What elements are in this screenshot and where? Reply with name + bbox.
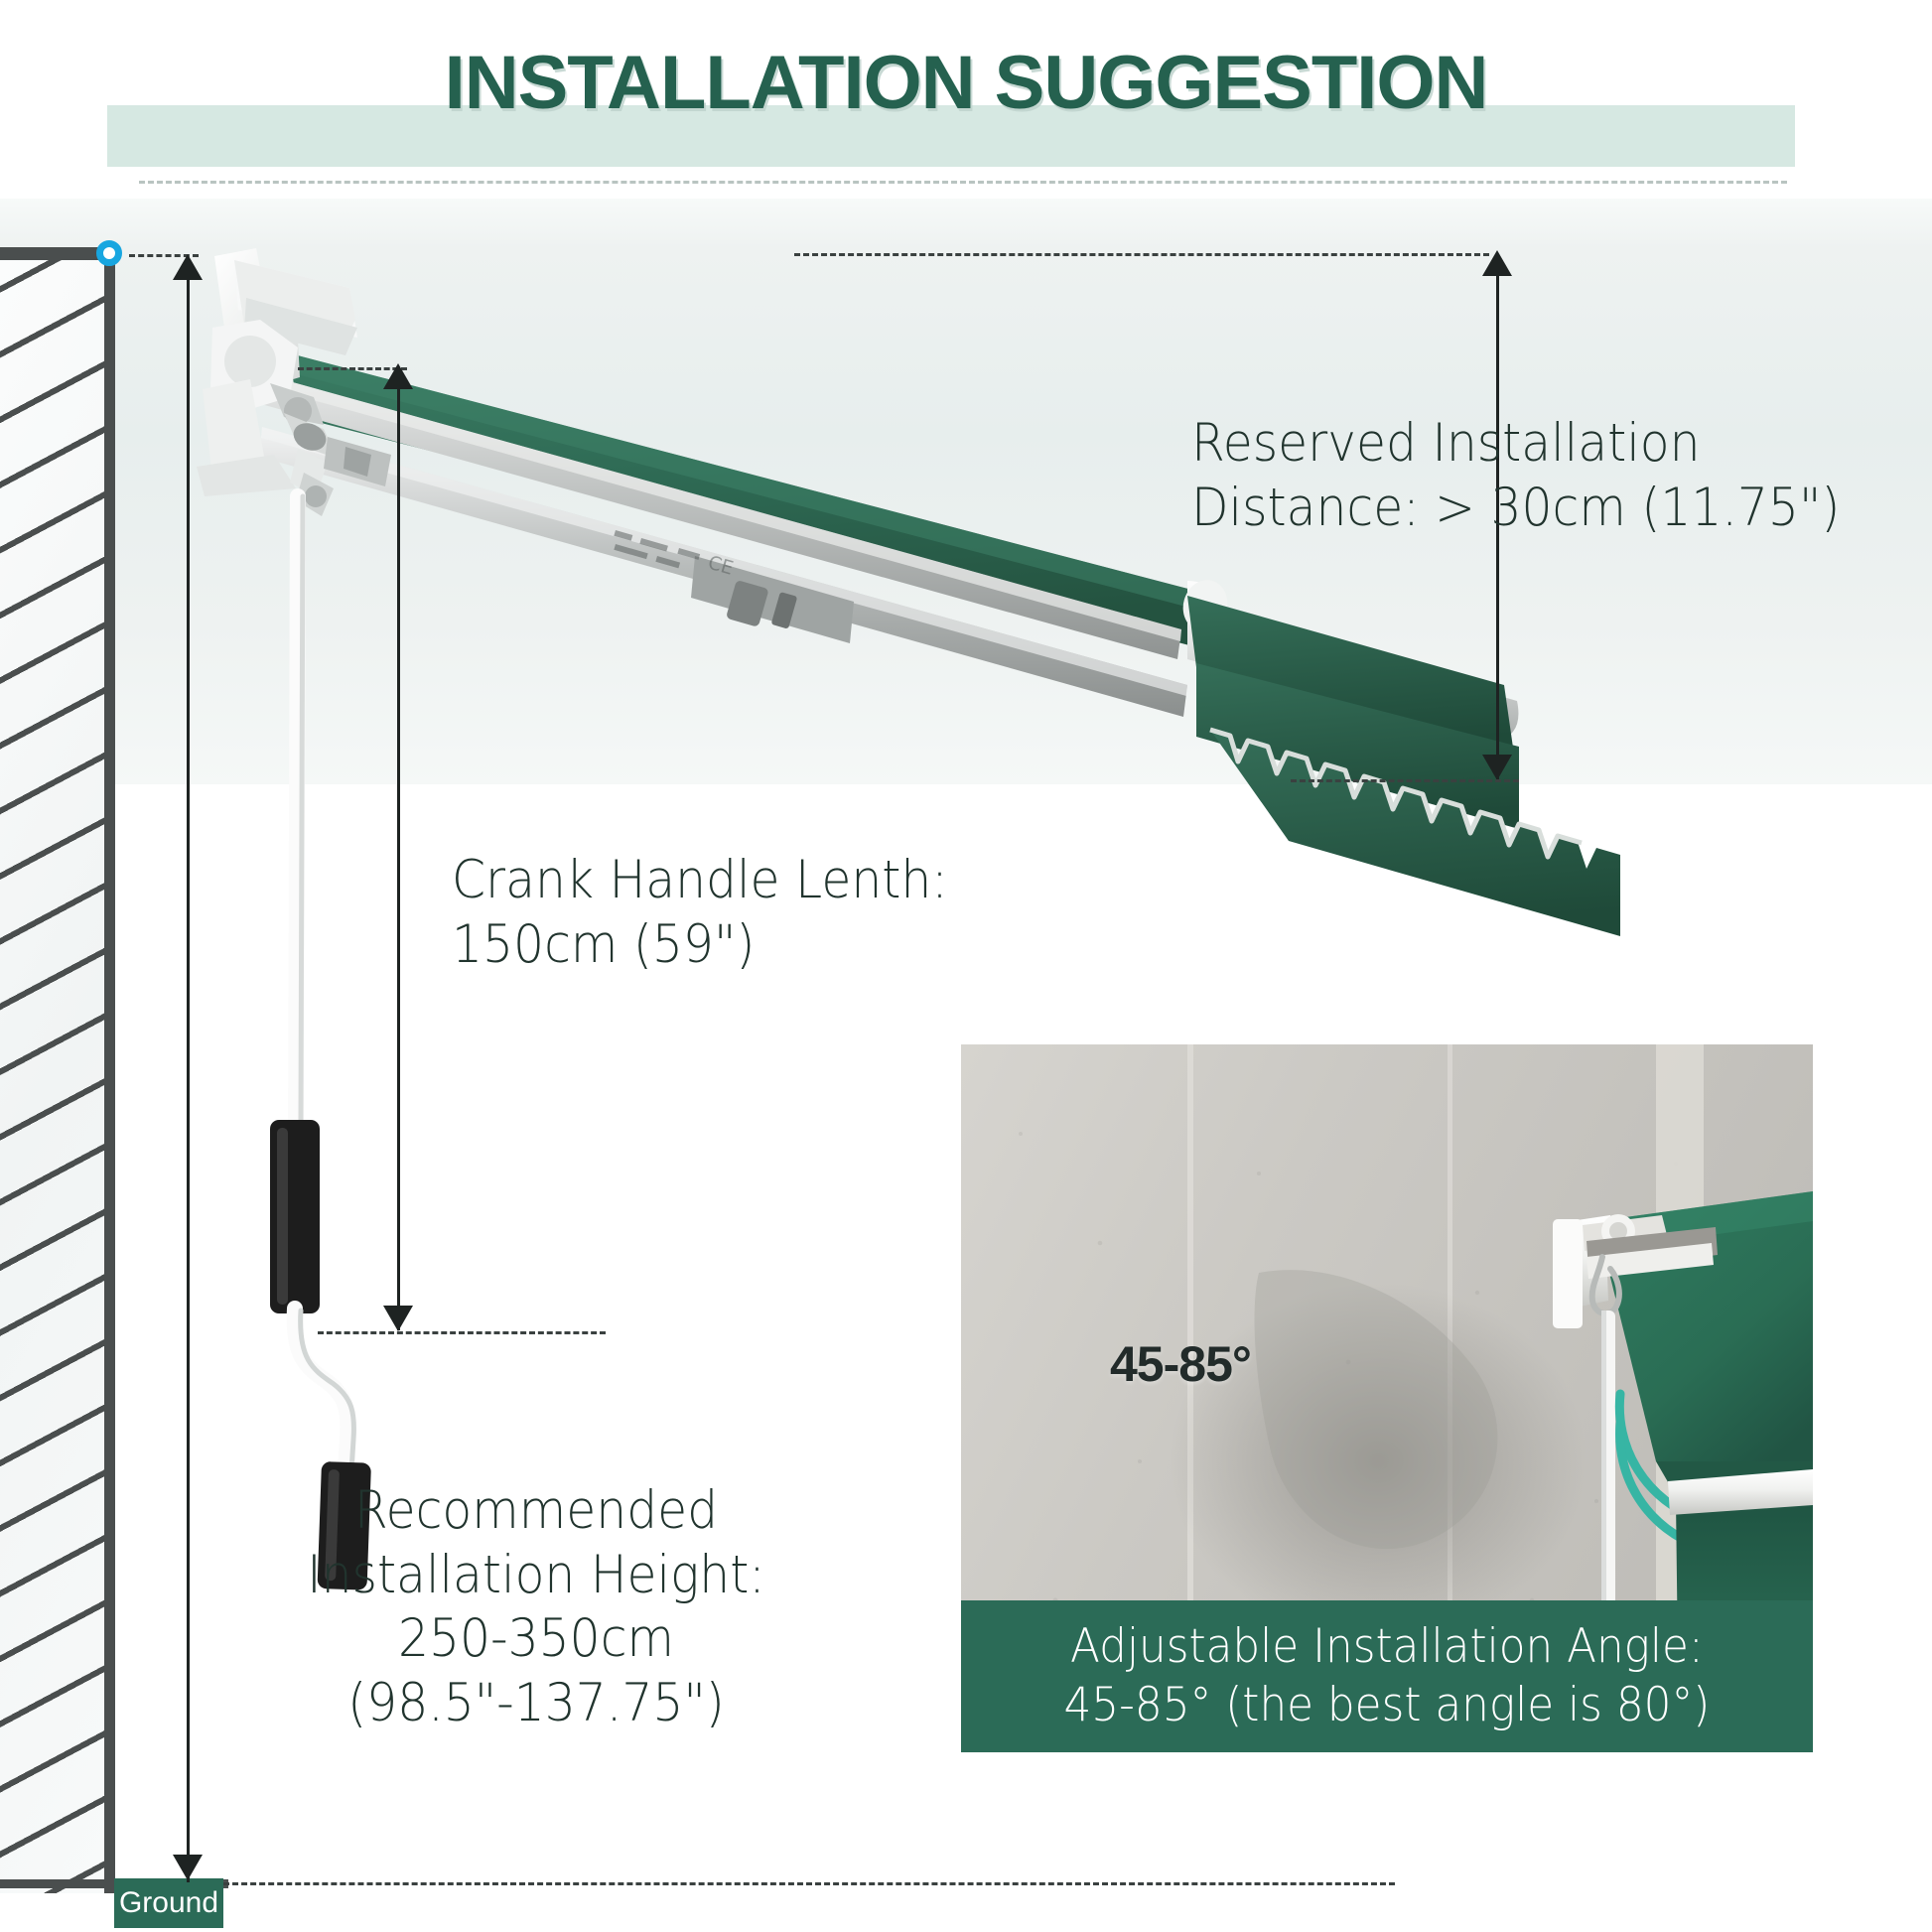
crank-dim-line [397,377,400,1330]
reserved-bottom-dashed [1291,779,1519,782]
crank-handle-label: Crank Handle Lenth: 150cm (59") [452,849,1045,977]
height-arrow-bottom [173,1855,203,1880]
reserved-distance-line1: Reserved Installation [1191,412,1867,477]
recommended-height-line1: Recommended [225,1479,847,1544]
recommended-height-label: Recommended Installation Height: 250-350… [225,1479,847,1736]
recommended-height-line3: 250-350cm [225,1607,847,1672]
reserved-top-dashed [794,253,1489,256]
reserved-arrow-bottom [1482,755,1512,780]
reserved-arrow-top [1482,250,1512,276]
photo-caption-line2: 45-85° (the best angle is 80°) [1064,1677,1711,1735]
crank-arrow-bottom [383,1306,413,1331]
crank-handle-line1: Crank Handle Lenth: [452,849,1045,913]
recommended-height-line2: Installation Height: [225,1544,847,1608]
crank-handle-line2: 150cm (59") [452,913,1045,978]
reserved-distance-label: Reserved Installation Distance: > 30cm (… [1191,412,1867,540]
reserved-distance-line2: Distance: > 30cm (11.75") [1191,477,1867,541]
angle-range-overlay: 45-85° [1110,1335,1251,1393]
crank-bottom-dashed [318,1331,606,1334]
crank-arrow-top [383,363,413,389]
recommended-height-line4: (98.5"-137.75") [225,1672,847,1736]
height-arrow-top [173,254,203,280]
photo-caption-bar: Adjustable Installation Angle: 45-85° (t… [961,1600,1813,1752]
height-dim-line [187,266,190,1882]
photo-caption-line1: Adjustable Installation Angle: [1070,1618,1704,1677]
